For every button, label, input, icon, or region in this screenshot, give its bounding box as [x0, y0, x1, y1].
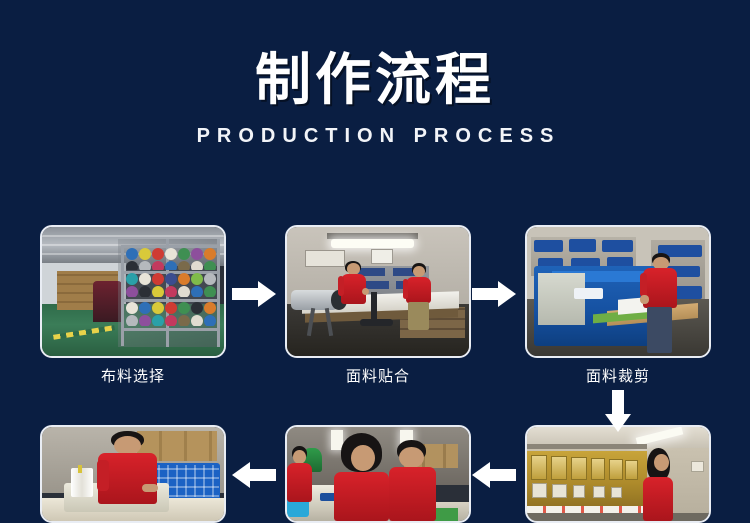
page-title: 制作流程: [0, 50, 750, 113]
process-step-3[interactable]: 面料裁剪: [525, 225, 711, 386]
photo-sewing-line[interactable]: [285, 425, 471, 523]
step-caption-1: 布料选择: [40, 365, 226, 386]
arrow-step1-to-step2: [232, 281, 276, 307]
arrow-step2-to-step3: [472, 281, 516, 307]
process-step-1[interactable]: 布料选择: [40, 225, 226, 386]
process-step-2[interactable]: 面料贴合: [285, 225, 471, 386]
step-caption-3: 面料裁剪: [525, 365, 711, 386]
process-step-5[interactable]: [285, 425, 471, 523]
process-step-4[interactable]: [40, 425, 226, 523]
step-caption-2: 面料贴合: [285, 365, 471, 386]
photo-embroidery-machines[interactable]: [525, 425, 711, 523]
photo-sewing-operator[interactable]: [40, 425, 226, 523]
photo-fabric-warehouse[interactable]: [40, 225, 226, 358]
page-subtitle: PRODUCTION PROCESS: [0, 125, 750, 148]
photo-fabric-laminating[interactable]: [285, 225, 471, 358]
page-header: 制作流程 PRODUCTION PROCESS: [0, 0, 750, 148]
process-step-6[interactable]: [525, 425, 711, 523]
photo-fabric-cutting[interactable]: [525, 225, 711, 358]
arrow-step3-to-step4: [605, 390, 631, 432]
arrow-step5-to-step4: [232, 462, 276, 488]
arrow-step6-to-step5: [472, 462, 516, 488]
